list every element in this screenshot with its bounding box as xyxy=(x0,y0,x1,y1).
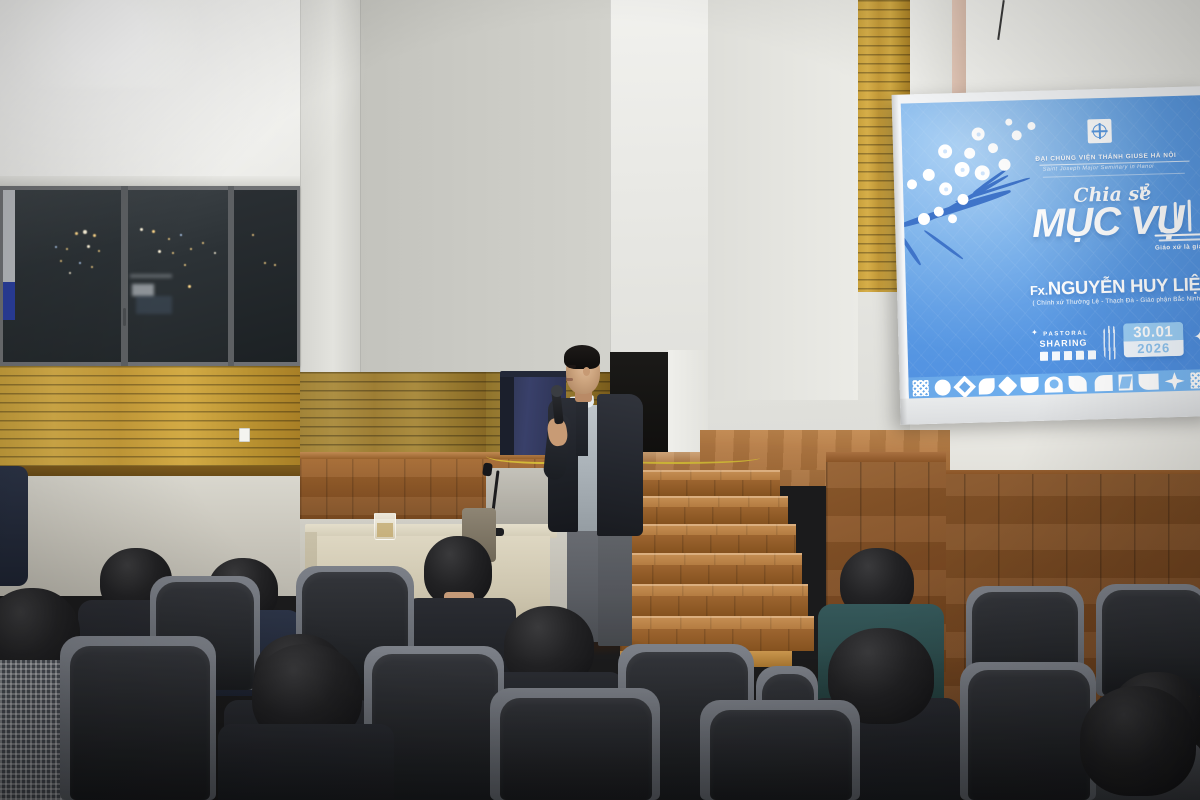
step-edge-5 xyxy=(628,496,788,498)
slide-speaker-prefix: Fx. xyxy=(1030,283,1048,298)
step-riser-3 xyxy=(624,565,802,584)
gooseneck-microphone-head xyxy=(482,463,493,477)
slide-logo-line1: PASTORAL xyxy=(1043,330,1088,337)
step-riser-5 xyxy=(628,507,788,524)
water-glass[interactable] xyxy=(374,513,396,540)
slide-logo-line2: SHARING xyxy=(1039,338,1087,349)
audience-body xyxy=(218,724,394,800)
step-tread-1 xyxy=(620,616,814,629)
presentation-slide: ĐẠI CHỦNG VIỆN THÁNH GIUSE HÀ NỘI Saint … xyxy=(901,95,1200,399)
sparkle-icon: ✦ xyxy=(1193,327,1200,347)
chair[interactable] xyxy=(710,710,852,800)
step-edge-1 xyxy=(620,616,814,618)
step-edge-2 xyxy=(622,584,808,586)
presenter-ear xyxy=(583,367,590,376)
window-mullion-1 xyxy=(121,186,128,366)
step-riser-4 xyxy=(626,535,796,553)
microphone-capsule xyxy=(551,385,563,397)
step-riser-6 xyxy=(630,480,780,496)
step-tread-5 xyxy=(628,496,788,507)
window-pane-right xyxy=(234,190,297,362)
screen-frame: ĐẠI CHỦNG VIỆN THÁNH GIUSE HÀ NỘI Saint … xyxy=(892,86,1200,425)
chair[interactable] xyxy=(500,698,652,800)
plus-icon: ✦ xyxy=(1031,328,1038,337)
pa-speaker-side xyxy=(500,377,514,455)
slide-date-badge: 30.01 2026 xyxy=(1123,322,1184,358)
window-handle[interactable] xyxy=(123,308,126,326)
chair[interactable] xyxy=(968,670,1090,800)
step-tread-4 xyxy=(626,524,796,535)
chair[interactable] xyxy=(70,646,210,800)
auditorium-photo: ĐẠI CHỦNG VIỆN THÁNH GIUSE HÀ NỘI Saint … xyxy=(0,0,1200,800)
step-edge-3 xyxy=(624,553,802,555)
step-riser-2 xyxy=(622,596,808,616)
slide-speaker-fullname: NGUYỄN HUY LIỆU xyxy=(1048,273,1200,299)
stair-wall-cap xyxy=(826,452,946,462)
wall-panel-center xyxy=(360,0,610,400)
slide-logo-glyph-row xyxy=(1040,350,1098,361)
seminary-crest-icon xyxy=(1087,119,1112,144)
presenter-jacket-right xyxy=(597,394,643,536)
step-tread-3 xyxy=(624,553,802,565)
presenter-jacket-lapel xyxy=(576,396,588,456)
step-edge-6 xyxy=(630,470,780,472)
slide-date-day: 30.01 xyxy=(1123,322,1184,342)
presenter-eye xyxy=(568,365,576,368)
audience-head xyxy=(1080,686,1196,796)
squiggle-divider-icon xyxy=(1103,326,1118,360)
slide-date-year: 2026 xyxy=(1123,340,1183,358)
window-pane-left xyxy=(3,190,121,362)
slide-motif-caption: Giáo xứ là gia xyxy=(1155,243,1200,251)
audience-body-edge xyxy=(0,466,28,586)
projection-screen[interactable]: ĐẠI CHỦNG VIỆN THÁNH GIUSE HÀ NỘI Saint … xyxy=(892,86,1200,425)
window-assembly[interactable] xyxy=(0,186,300,366)
slat-wall-left xyxy=(0,366,300,474)
light-switch[interactable] xyxy=(239,428,250,442)
wall-seam-c xyxy=(610,0,611,360)
step-tread-6 xyxy=(630,470,780,480)
presenter-mouth xyxy=(566,378,573,381)
wall-panel-right xyxy=(708,0,858,400)
step-edge-4 xyxy=(626,524,796,526)
step-tread-2 xyxy=(622,584,808,596)
wheat-water-motif-icon xyxy=(1152,199,1200,243)
window-pane-center xyxy=(128,190,228,362)
presenter-leg-right xyxy=(598,520,632,646)
